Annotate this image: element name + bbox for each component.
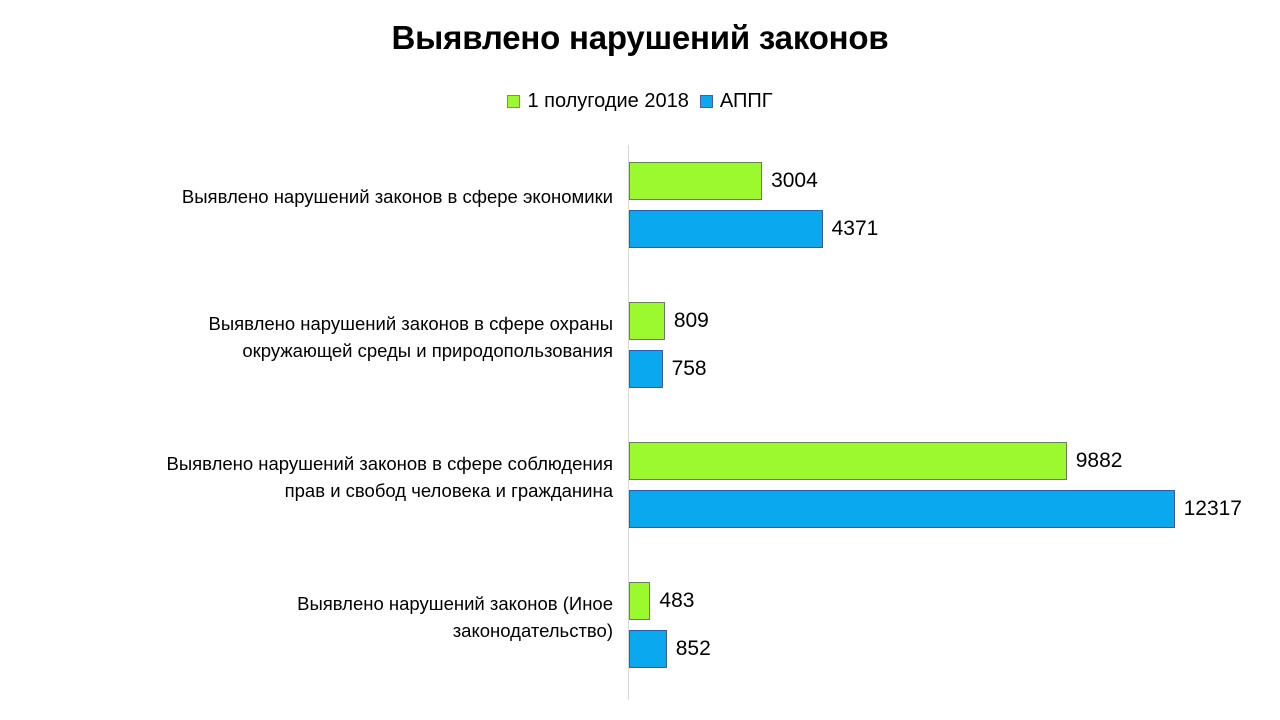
bar-group: Выявлено нарушений законов в сфере охран…: [0, 280, 1280, 420]
legend-swatch-icon-series-1: [700, 95, 713, 108]
bar-group: Выявлено нарушений законов в сфере соблю…: [0, 420, 1280, 560]
plot-area: Выявлено нарушений законов в сфере эконо…: [0, 140, 1280, 700]
legend-entry-series-1[interactable]: АППГ: [700, 90, 773, 112]
bar-series-1[interactable]: [629, 490, 1175, 528]
bar-series-1[interactable]: [629, 630, 667, 668]
category-label: Выявлено нарушений законов в сфере охран…: [13, 310, 613, 364]
bar-row: 758: [629, 350, 707, 388]
category-label: Выявлено нарушений законов в сфере соблю…: [13, 450, 613, 504]
category-label: Выявлено нарушений законов в сфере эконо…: [13, 183, 613, 210]
category-label-line: Выявлено нарушений законов (Иное: [13, 590, 613, 617]
bar-value-label: 483: [659, 582, 694, 620]
category-label: Выявлено нарушений законов (Иное законод…: [13, 590, 613, 644]
bar-series-0[interactable]: [629, 302, 665, 340]
legend-label-series-1: АППГ: [720, 90, 773, 112]
bar-row: 4371: [629, 210, 878, 248]
bar-value-label: 4371: [832, 210, 879, 248]
legend-label-series-0: 1 полугодие 2018: [527, 90, 688, 112]
category-label-line: Выявлено нарушений законов в сфере эконо…: [13, 183, 613, 210]
bar-group: Выявлено нарушений законов в сфере эконо…: [0, 140, 1280, 280]
bar-series-0[interactable]: [629, 442, 1067, 480]
category-label-line: Выявлено нарушений законов в сфере соблю…: [13, 450, 613, 477]
bar-row: 3004: [629, 162, 818, 200]
bar-series-1[interactable]: [629, 350, 663, 388]
bar-value-label: 9882: [1076, 442, 1123, 480]
bar-row: 852: [629, 630, 711, 668]
bar-series-1[interactable]: [629, 210, 823, 248]
bar-value-label: 758: [672, 350, 707, 388]
bar-value-label: 809: [674, 302, 709, 340]
category-label-line: прав и свобод человека и гражданина: [13, 477, 613, 504]
category-label-line: Выявлено нарушений законов в сфере охран…: [13, 310, 613, 337]
bar-value-label: 852: [676, 630, 711, 668]
category-label-line: законодательство): [13, 617, 613, 644]
bar-group: Выявлено нарушений законов (Иное законод…: [0, 560, 1280, 700]
legend-swatch-icon-series-0: [507, 95, 520, 108]
bar-row: 483: [629, 582, 694, 620]
bar-series-0[interactable]: [629, 582, 650, 620]
bar-value-label: 12317: [1184, 490, 1242, 528]
bar-chart: Выявлено нарушений законов 1 полугодие 2…: [0, 0, 1280, 720]
bar-series-0[interactable]: [629, 162, 762, 200]
category-label-line: окружающей среды и природопользования: [13, 337, 613, 364]
legend-entry-series-0[interactable]: 1 полугодие 2018: [507, 90, 688, 112]
bar-row: 9882: [629, 442, 1122, 480]
bar-row: 12317: [629, 490, 1242, 528]
bar-row: 809: [629, 302, 709, 340]
bar-value-label: 3004: [771, 162, 818, 200]
chart-legend: 1 полугодие 2018 АППГ: [0, 90, 1280, 112]
chart-title: Выявлено нарушений законов: [0, 18, 1280, 58]
